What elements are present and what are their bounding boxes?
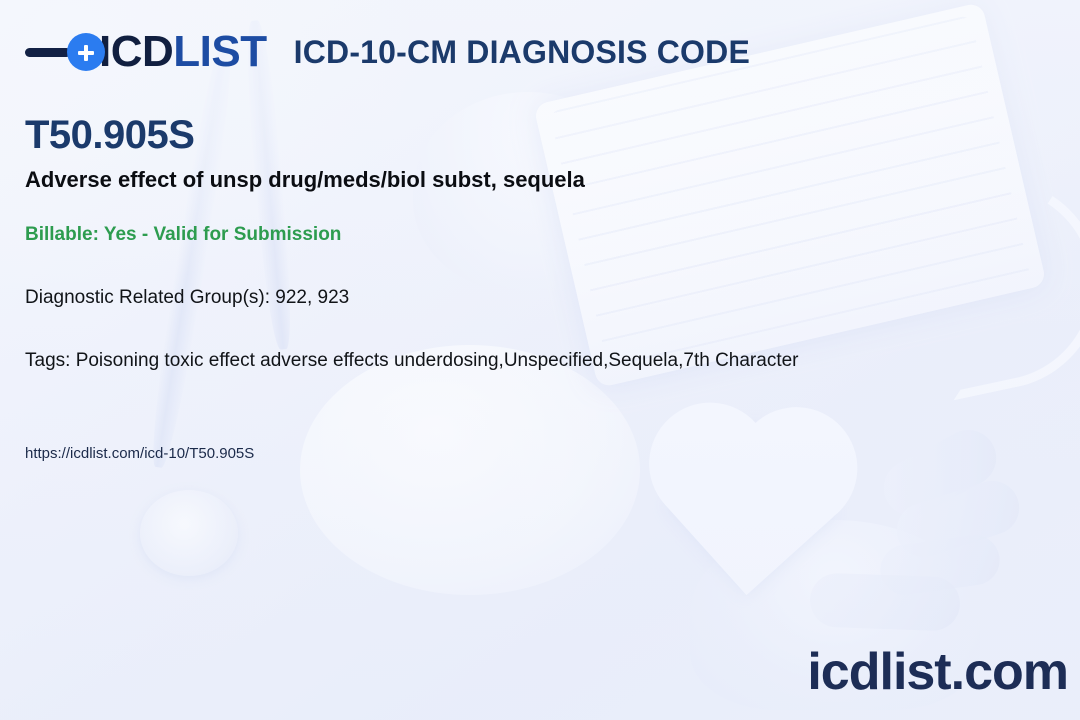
horizontal-dash-icon: [25, 48, 71, 57]
icd-code-description: Adverse effect of unsp drug/meds/biol su…: [25, 166, 585, 194]
logo-word-icd: ICD: [99, 27, 173, 76]
plus-circle-icon: [67, 33, 105, 71]
source-url[interactable]: https://icdlist.com/icd-10/T50.905S: [25, 445, 254, 464]
logo-wordmark: ICDLIST: [99, 30, 267, 74]
icd-code-value: T50.905S: [25, 113, 194, 157]
billable-status: Billable: Yes - Valid for Submission: [25, 223, 341, 247]
logo-word-list: LIST: [173, 27, 266, 76]
icd-code-card: ICDLIST ICD-10-CM DIAGNOSIS CODE T50.905…: [0, 0, 1080, 720]
tags-list: Tags: Poisoning toxic effect adverse eff…: [25, 349, 799, 373]
diagnostic-related-groups: Diagnostic Related Group(s): 922, 923: [25, 286, 349, 310]
page-header: ICDLIST ICD-10-CM DIAGNOSIS CODE: [25, 26, 750, 78]
page-title: ICD-10-CM DIAGNOSIS CODE: [294, 34, 750, 71]
site-watermark: icdlist.com: [807, 646, 1068, 698]
icdlist-logo[interactable]: ICDLIST: [25, 26, 267, 78]
